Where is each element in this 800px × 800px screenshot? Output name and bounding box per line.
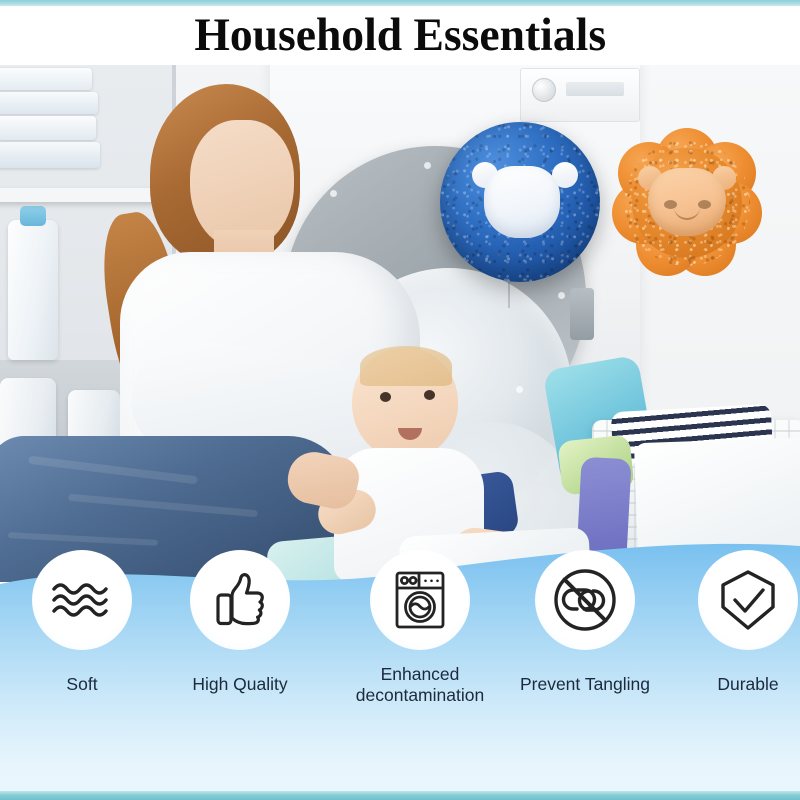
feature-icon-circle [370, 550, 470, 650]
folded-towel [0, 142, 100, 168]
feature-label-line: decontamination [340, 685, 500, 706]
feature-label: Soft [2, 674, 162, 695]
rim-bolt [558, 292, 565, 299]
thumbs-up-icon [212, 571, 268, 629]
baby-eye [424, 390, 435, 400]
washer-knob [532, 78, 556, 102]
feature-label: Enhanced decontamination [340, 664, 500, 705]
rim-bolt [516, 386, 523, 393]
feature-icon-circle [32, 550, 132, 650]
feature-icon-circle [535, 550, 635, 650]
feature-item-durable: Durable [668, 550, 800, 695]
feature-label: High Quality [160, 674, 320, 695]
bear-face [484, 166, 560, 238]
product-marketing-image: Household Essentials [0, 0, 800, 800]
washer-display [566, 82, 624, 96]
feature-list: Soft High Quality [0, 532, 800, 800]
folded-towel [0, 68, 92, 90]
feature-item-enhanced-decontamination: Enhanced decontamination [340, 550, 500, 705]
rim-bolt [424, 162, 431, 169]
folded-towel [0, 116, 96, 140]
baby-hair [360, 346, 452, 386]
bottom-edge-rule [0, 791, 800, 800]
feature-icon-circle [698, 550, 798, 650]
detergent-bottle [8, 220, 58, 360]
feature-label: Prevent Tangling [505, 674, 665, 695]
rim-bolt [330, 190, 337, 197]
page-title: Household Essentials [194, 8, 606, 62]
feature-item-prevent-tangling: Prevent Tangling [505, 550, 665, 695]
washer-door-hinge [570, 288, 594, 340]
lion-face [648, 168, 726, 236]
baby-eye [380, 392, 391, 402]
feature-label: Durable [668, 674, 800, 695]
flower-petals [612, 128, 762, 278]
jeans-fold [28, 456, 198, 485]
feature-item-soft: Soft [2, 550, 162, 695]
orange-lint-ball [612, 128, 762, 278]
washing-machine-icon [392, 569, 448, 631]
no-tangle-icon [551, 566, 619, 634]
feature-label-line: Enhanced [340, 664, 500, 685]
bottle-cap [20, 206, 46, 226]
title-bar: Household Essentials [0, 5, 800, 65]
blue-lint-ball [440, 122, 600, 282]
top-edge-rule [0, 0, 800, 6]
jeans-fold [68, 494, 258, 518]
folded-towel [0, 92, 98, 114]
shelf-board [0, 188, 172, 202]
shield-check-icon [718, 568, 778, 632]
waves-icon [51, 578, 113, 622]
feature-item-high-quality: High Quality [160, 550, 320, 695]
feature-icon-circle [190, 550, 290, 650]
